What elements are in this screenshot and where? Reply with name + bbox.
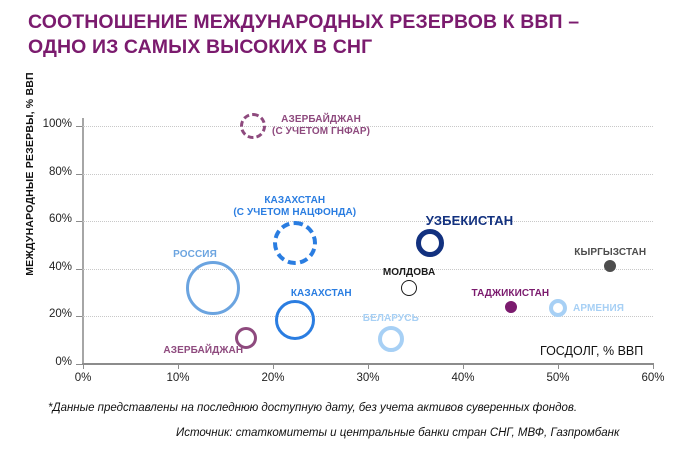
bubble-казахстан[interactable] (275, 300, 315, 340)
bubble-таджикистан[interactable] (505, 301, 517, 313)
x-tick-label: 10% (153, 372, 203, 384)
footnote-source: Источник: статкомитеты и центральные бан… (176, 427, 619, 439)
x-tick-mark (273, 364, 274, 369)
bubble-label-line: КАЗАХСТАН (233, 195, 356, 207)
bubble-беларусь[interactable] (378, 326, 404, 352)
x-tick-mark (83, 364, 84, 369)
bubble-label-line: АЗЕРБАЙДЖАН (272, 114, 370, 126)
y-tick-mark (76, 364, 82, 365)
y-tick-mark (76, 174, 82, 175)
bubble-узбекистан[interactable] (416, 229, 444, 257)
bubble-label-казахстан-с-учетом-нацфонда-: КАЗАХСТАН(С УЧЕТОМ НАЦФОНДА) (233, 195, 356, 219)
bubble-армения[interactable] (549, 299, 567, 317)
x-tick-label: 0% (58, 372, 108, 384)
bubble-label-line: ТАДЖИКИСТАН (472, 288, 550, 299)
gridline-y (83, 269, 653, 270)
bubble-label-азербайджан: АЗЕРБАЙДЖАН (163, 345, 243, 356)
bubble-label-line: КЫРГЫЗСТАН (574, 247, 646, 258)
bubble-label-line: УЗБЕКИСТАН (426, 213, 514, 228)
y-tick-mark (76, 269, 82, 270)
y-tick-mark (76, 126, 82, 127)
x-tick-mark (558, 364, 559, 369)
bubble-label-азербайджан-с-учетом-гнфар-: АЗЕРБАЙДЖАН(С УЧЕТОМ ГНФАР) (272, 114, 370, 138)
bubble-label-молдова: МОЛДОВА (383, 267, 435, 278)
bubble-label-line: (С УЧЕТОМ НАЦФОНДА) (233, 207, 356, 219)
x-tick-mark (368, 364, 369, 369)
bubble-label-беларусь: БЕЛАРУСЬ (363, 313, 419, 324)
x-tick-label: 40% (438, 372, 488, 384)
bubble-label-line: КАЗАХСТАН (291, 288, 352, 299)
title-line-2: ОДНО ИЗ САМЫХ ВЫСОКИХ В СНГ (28, 35, 658, 60)
footnote-data: *Данные представлены на последнюю доступ… (48, 402, 577, 414)
page-title: СООТНОШЕНИЕ МЕЖДУНАРОДНЫХ РЕЗЕРВОВ К ВВП… (28, 10, 658, 60)
bubble-молдова[interactable] (401, 280, 417, 296)
bubble-label-россия: РОССИЯ (173, 249, 217, 260)
x-tick-mark (178, 364, 179, 369)
y-tick-label: 60% (22, 213, 72, 225)
bubble-label-казахстан: КАЗАХСТАН (291, 288, 352, 299)
bubble-label-line: МОЛДОВА (383, 267, 435, 278)
bubble-label-line: РОССИЯ (173, 249, 217, 260)
bubble-label-line: АЗЕРБАЙДЖАН (163, 345, 243, 356)
bubble-азербайджан-с-учетом-гнфар-[interactable] (240, 113, 266, 139)
plot-area: РОССИЯКАЗАХСТАНКАЗАХСТАН(С УЧЕТОМ НАЦФОН… (83, 126, 653, 364)
bubble-label-line: БЕЛАРУСЬ (363, 313, 419, 324)
y-tick-mark (76, 316, 82, 317)
y-tick-label: 100% (22, 118, 72, 130)
x-tick-label: 30% (343, 372, 393, 384)
x-tick-mark (653, 364, 654, 369)
x-tick-label: 20% (248, 372, 298, 384)
gridline-y (83, 221, 653, 222)
bubble-label-line: (С УЧЕТОМ ГНФАР) (272, 126, 370, 138)
bubble-россия[interactable] (186, 261, 240, 315)
bubble-label-узбекистан: УЗБЕКИСТАН (426, 213, 514, 228)
y-tick-label: 80% (22, 166, 72, 178)
y-tick-mark (76, 221, 82, 222)
bubble-казахстан-с-учетом-нацфонда-[interactable] (273, 221, 317, 265)
y-tick-label: 20% (22, 308, 72, 320)
title-line-1: СООТНОШЕНИЕ МЕЖДУНАРОДНЫХ РЕЗЕРВОВ К ВВП… (28, 10, 658, 35)
bubble-кыргызстан[interactable] (604, 260, 616, 272)
x-tick-label: 60% (628, 372, 678, 384)
bubble-label-армения: АРМЕНИЯ (573, 303, 624, 314)
y-tick-label: 40% (22, 261, 72, 273)
x-tick-mark (463, 364, 464, 369)
bubble-label-кыргызстан: КЫРГЫЗСТАН (574, 247, 646, 258)
x-tick-label: 50% (533, 372, 583, 384)
gridline-y (83, 174, 653, 175)
bubble-label-line: АРМЕНИЯ (573, 303, 624, 314)
y-tick-label: 0% (22, 356, 72, 368)
bubble-label-таджикистан: ТАДЖИКИСТАН (472, 288, 550, 299)
